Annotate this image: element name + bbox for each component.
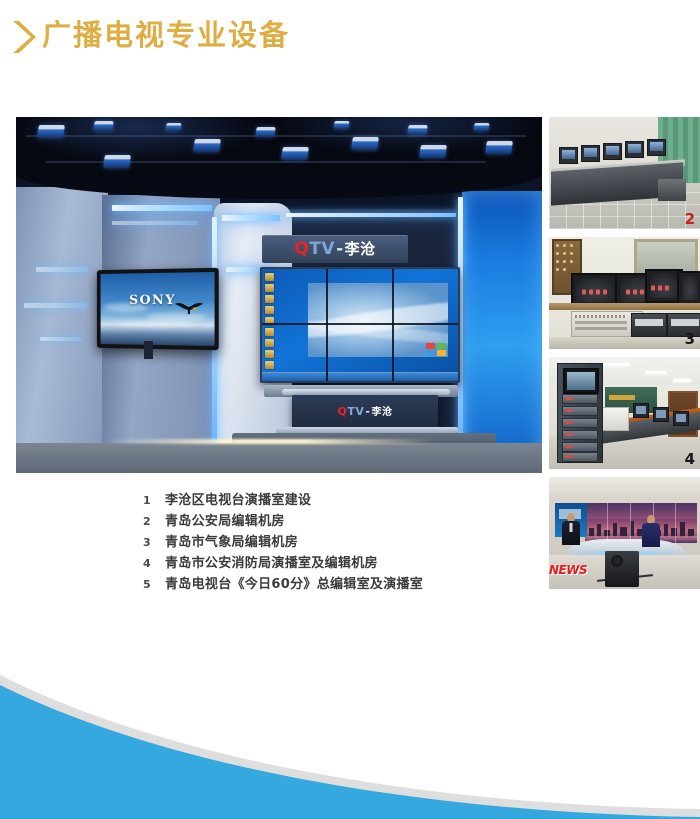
- windows-logo-icon: [426, 343, 448, 357]
- thumbnail-equipment-room: 4: [549, 357, 700, 469]
- studio-videowall-skyline: [585, 503, 697, 543]
- studio-video-wall: [260, 267, 460, 383]
- caption-label: 李沧区电视台演播室建设: [165, 489, 311, 508]
- thumbnail-number: 4: [685, 452, 695, 467]
- caption-label: 青岛市气象局编辑机房: [165, 531, 298, 550]
- equipment-rack: [557, 363, 603, 463]
- qtv-logo-tv: TV: [309, 239, 335, 259]
- qtv-logo-panel: QTV-李沧: [262, 235, 408, 263]
- qtv-logo-cn: 李沧: [345, 240, 376, 258]
- floor-light-strip: [106, 439, 436, 444]
- tv-stand: [144, 341, 153, 359]
- thumbnail-column: 2 3: [549, 117, 700, 597]
- caption-number: 2: [143, 515, 165, 528]
- equipment-cart: [658, 179, 686, 201]
- desk-logo-tv: TV: [347, 405, 364, 418]
- caption-number: 5: [143, 578, 165, 591]
- chevron-right-icon: [9, 18, 39, 56]
- caption-number: 1: [143, 494, 165, 507]
- thumbnail-number: 2: [685, 212, 695, 227]
- studio-floor: [16, 443, 542, 473]
- anchor-desk: QTV-李沧: [292, 395, 438, 429]
- qtv-logo-dash: -: [336, 239, 344, 259]
- page-header: 广播电视专业设备: [0, 0, 700, 92]
- caption-label: 青岛电视台《今日60分》总编辑室及演播室: [165, 573, 423, 592]
- rack-monitor: [563, 368, 599, 394]
- caption-number: 3: [143, 536, 165, 549]
- thumbnail-monitor-rack: 3: [549, 237, 700, 349]
- sony-screen: SONY: [101, 272, 215, 346]
- studio-camera: [605, 551, 639, 587]
- list-item: 2 青岛公安局编辑机房: [143, 510, 503, 530]
- list-item: 1 李沧区电视台演播室建设: [143, 489, 503, 509]
- footer-wave-decoration: [0, 639, 700, 819]
- desk-logo-cn: 李沧: [371, 407, 392, 418]
- page-title: 广播电视专业设备: [42, 15, 290, 55]
- desk-qtv-logo: QTV-李沧: [338, 406, 393, 418]
- thumbnail-edit-suite: 2: [549, 117, 700, 229]
- desk-logo-q: Q: [338, 405, 348, 418]
- studio-wall-blue: [462, 191, 542, 473]
- video-wall-desktop: [262, 269, 458, 381]
- paper-stack: [601, 407, 629, 431]
- news-logo: NEWS: [549, 563, 587, 577]
- desktop-taskbar: [262, 372, 458, 381]
- monitor-shelf: [549, 303, 700, 310]
- caption-label: 青岛公安局编辑机房: [165, 510, 285, 529]
- list-item: 3 青岛市气象局编辑机房: [143, 531, 503, 551]
- sony-display: SONY: [97, 268, 219, 350]
- camera-lens-icon: [611, 555, 623, 567]
- list-item: 4 青岛市公安消防局演播室及编辑机房: [143, 552, 503, 572]
- caption-label: 青岛市公安消防局演播室及编辑机房: [165, 552, 378, 571]
- caption-number: 4: [143, 557, 165, 570]
- list-item: 5 青岛电视台《今日60分》总编辑室及演播室: [143, 573, 503, 593]
- qtv-logo-q: Q: [294, 239, 309, 259]
- studio-wall-left: [16, 187, 108, 473]
- studio-ceiling-lights: [16, 117, 542, 199]
- eagle-icon: [174, 299, 204, 317]
- desk-logo-dash: -: [365, 405, 370, 418]
- qtv-logo: QTV-李沧: [294, 241, 375, 258]
- broadcast-studio-photo: SONY QTV-李沧: [16, 117, 542, 473]
- thumbnail-number: 3: [685, 332, 695, 347]
- thumbnail-news-studio: NEWS: [549, 477, 700, 589]
- work-surface: [549, 337, 700, 349]
- caption-list: 1 李沧区电视台演播室建设 2 青岛公安局编辑机房 3 青岛市气象局编辑机房 4…: [143, 489, 503, 594]
- sony-wordmark: SONY: [129, 293, 176, 308]
